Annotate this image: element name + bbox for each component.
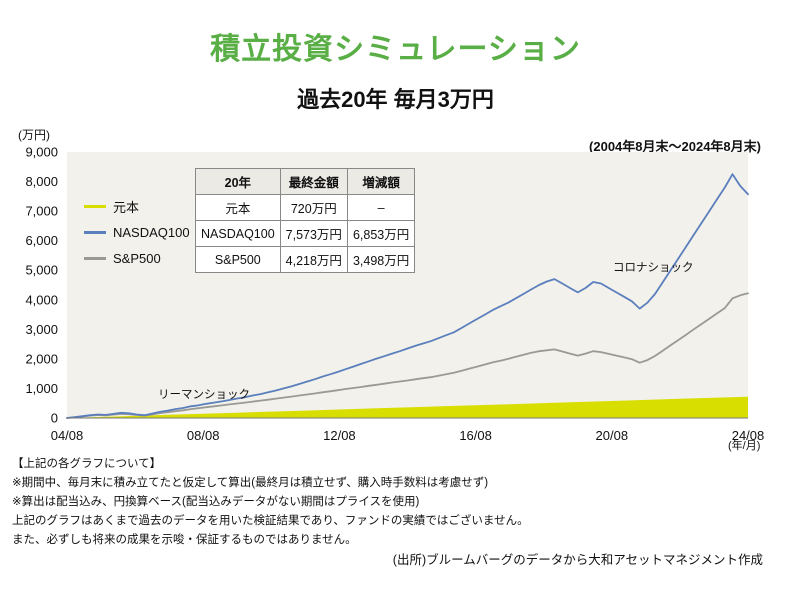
y-axis-tick-label: 4,000 bbox=[25, 292, 58, 307]
footnote-line: ※期間中、毎月末に積み立てたと仮定して算出(最終月は積立せず、購入時手数料は考慮… bbox=[12, 474, 529, 493]
footnote-line: また、必ずしも将来の成果を示唆・保証するものではありません。 bbox=[12, 531, 529, 550]
legend-item-principal: 元本 bbox=[84, 196, 190, 216]
x-axis-tick-label: 12/08 bbox=[323, 428, 356, 443]
table-cell-final: 4,218万円 bbox=[280, 247, 347, 273]
table-row: NASDAQ100 7,573万円 6,853万円 bbox=[196, 221, 415, 247]
annotation-lehman-shock: リーマンショック bbox=[158, 386, 250, 402]
table-cell-change: 3,498万円 bbox=[347, 247, 414, 273]
x-axis-tick-label: 08/08 bbox=[187, 428, 220, 443]
x-axis-unit-label: (年/月) bbox=[728, 437, 760, 453]
table-cell-name: 元本 bbox=[196, 195, 281, 221]
summary-table: 20年 最終金額 増減額 元本 720万円 – NASDAQ100 7,573万… bbox=[195, 168, 415, 273]
table-cell-name: S&P500 bbox=[196, 247, 281, 273]
table-cell-change: – bbox=[347, 195, 414, 221]
x-axis-tick-label: 20/08 bbox=[596, 428, 629, 443]
x-axis-tick-label: 04/08 bbox=[51, 428, 84, 443]
legend-swatch-sp500 bbox=[84, 257, 106, 260]
footnotes: 【上記の各グラフについて】 ※期間中、毎月末に積み立てたと仮定して算出(最終月は… bbox=[12, 455, 529, 550]
table-row: 元本 720万円 – bbox=[196, 195, 415, 221]
annotation-corona-shock: コロナショック bbox=[613, 259, 694, 275]
table-cell-change: 6,853万円 bbox=[347, 221, 414, 247]
footnote-line: 【上記の各グラフについて】 bbox=[12, 455, 529, 474]
y-axis-tick-label: 2,000 bbox=[25, 351, 58, 366]
y-axis-tick-label: 9,000 bbox=[25, 145, 58, 160]
y-axis-tick-label: 3,000 bbox=[25, 322, 58, 337]
y-axis-tick-label: 6,000 bbox=[25, 233, 58, 248]
table-cell-final: 720万円 bbox=[280, 195, 347, 221]
page-title: 積立投資シミュレーション bbox=[0, 24, 791, 68]
chart-legend: 元本 NASDAQ100 S&P500 bbox=[84, 196, 190, 274]
y-axis-tick-label: 5,000 bbox=[25, 263, 58, 278]
legend-label-principal: 元本 bbox=[113, 197, 139, 216]
x-axis-tick-label: 16/08 bbox=[459, 428, 492, 443]
legend-item-sp500: S&P500 bbox=[84, 248, 190, 268]
table-header-final-amount: 最終金額 bbox=[280, 169, 347, 195]
table-header-period: 20年 bbox=[196, 169, 281, 195]
page-subtitle: 過去20年 毎月3万円 bbox=[0, 82, 791, 114]
y-axis-tick-label: 0 bbox=[51, 411, 58, 426]
table-header-change: 増減額 bbox=[347, 169, 414, 195]
table-row: S&P500 4,218万円 3,498万円 bbox=[196, 247, 415, 273]
legend-swatch-principal bbox=[84, 205, 106, 208]
table-header-row: 20年 最終金額 増減額 bbox=[196, 169, 415, 195]
source-note: (出所)ブルームバーグのデータから大和アセットマネジメント作成 bbox=[393, 549, 763, 568]
footnote-line: ※算出は配当込み、円換算ベース(配当込みデータがない期間はプライスを使用) bbox=[12, 493, 529, 512]
y-axis-tick-label: 8,000 bbox=[25, 174, 58, 189]
table-cell-name: NASDAQ100 bbox=[196, 221, 281, 247]
legend-label-nasdaq100: NASDAQ100 bbox=[113, 225, 190, 240]
y-axis-tick-label: 1,000 bbox=[25, 381, 58, 396]
y-axis-tick-label: 7,000 bbox=[25, 204, 58, 219]
legend-swatch-nasdaq100 bbox=[84, 231, 106, 234]
legend-item-nasdaq100: NASDAQ100 bbox=[84, 222, 190, 242]
table-cell-final: 7,573万円 bbox=[280, 221, 347, 247]
legend-label-sp500: S&P500 bbox=[113, 251, 161, 266]
footnote-line: 上記のグラフはあくまで過去のデータを用いた検証結果であり、ファンドの実績ではござ… bbox=[12, 512, 529, 531]
